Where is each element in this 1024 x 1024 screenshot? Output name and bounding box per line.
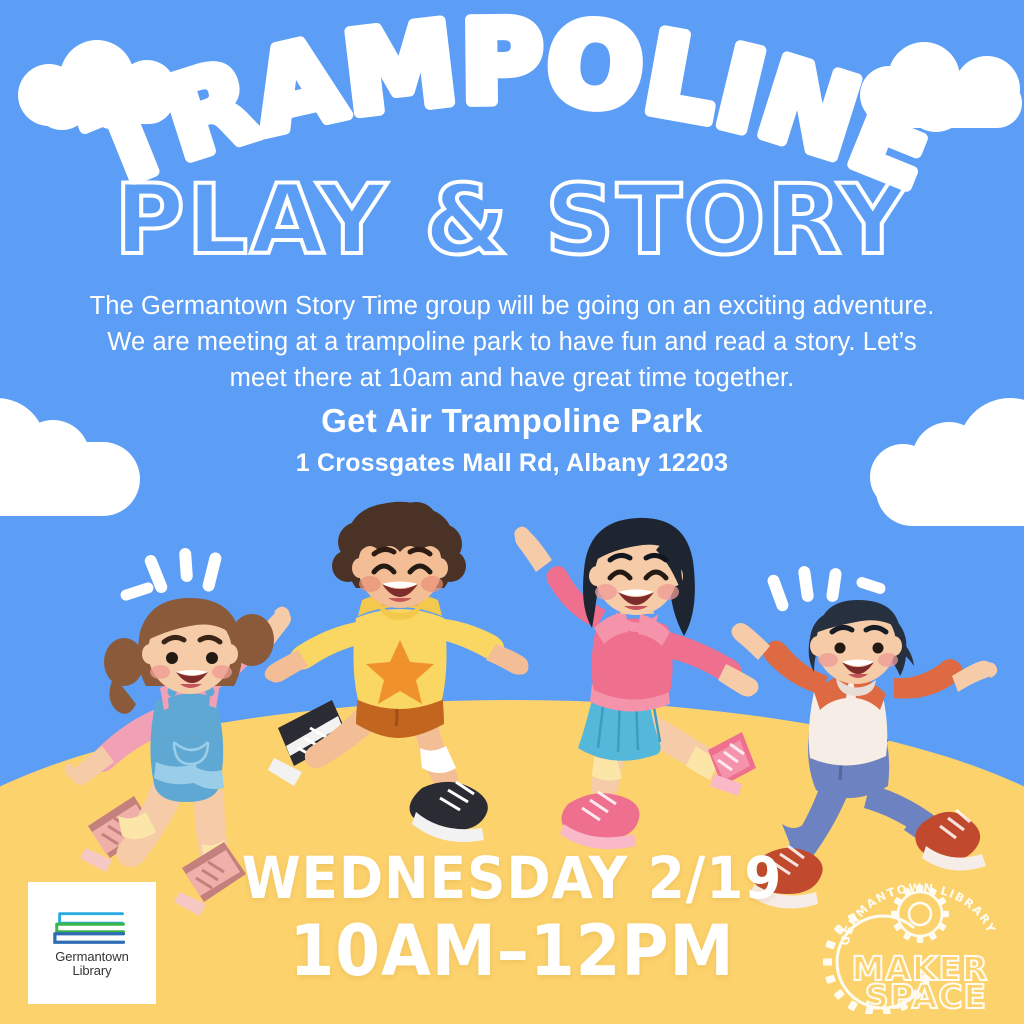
venue-address: 1 Crossgates Mall Rd, Albany 12203 bbox=[0, 445, 1024, 481]
description-line-1: The Germantown Story Time group will be … bbox=[48, 288, 976, 324]
library-logo-text: Germantown Library bbox=[55, 950, 128, 978]
makerspace-word-space: SPACE bbox=[865, 977, 987, 1014]
germantown-library-logo: Germantown Library bbox=[28, 882, 156, 1004]
description-line-3: meet there at 10am and have great time t… bbox=[48, 360, 976, 396]
cloud-top-left bbox=[14, 36, 184, 126]
stacked-books-icon bbox=[53, 908, 131, 948]
kid-girl-black-hair-skirt bbox=[512, 516, 756, 848]
description-paragraph: The Germantown Story Time group will be … bbox=[48, 288, 976, 396]
kid-boy-curly-star-shirt bbox=[272, 500, 524, 848]
venue-name: Get Air Trampoline Park bbox=[0, 400, 1024, 441]
title-line2: PLAY & STORY bbox=[0, 172, 1024, 268]
library-name-line1: Germantown bbox=[55, 950, 128, 964]
description-line-2: We are meeting at a trampoline park to h… bbox=[48, 324, 976, 360]
library-name-line2: Library bbox=[55, 964, 128, 978]
makerspace-logo: GERMANTOWN LIBRARY MAKER SPACE bbox=[822, 874, 1010, 1014]
venue-block: Get Air Trampoline Park 1 Crossgates Mal… bbox=[0, 400, 1024, 482]
cloud-top-right bbox=[858, 40, 1024, 132]
poster-canvas: TRAMPOLINE PLAY & STORY The Germantown S… bbox=[0, 0, 1024, 1024]
